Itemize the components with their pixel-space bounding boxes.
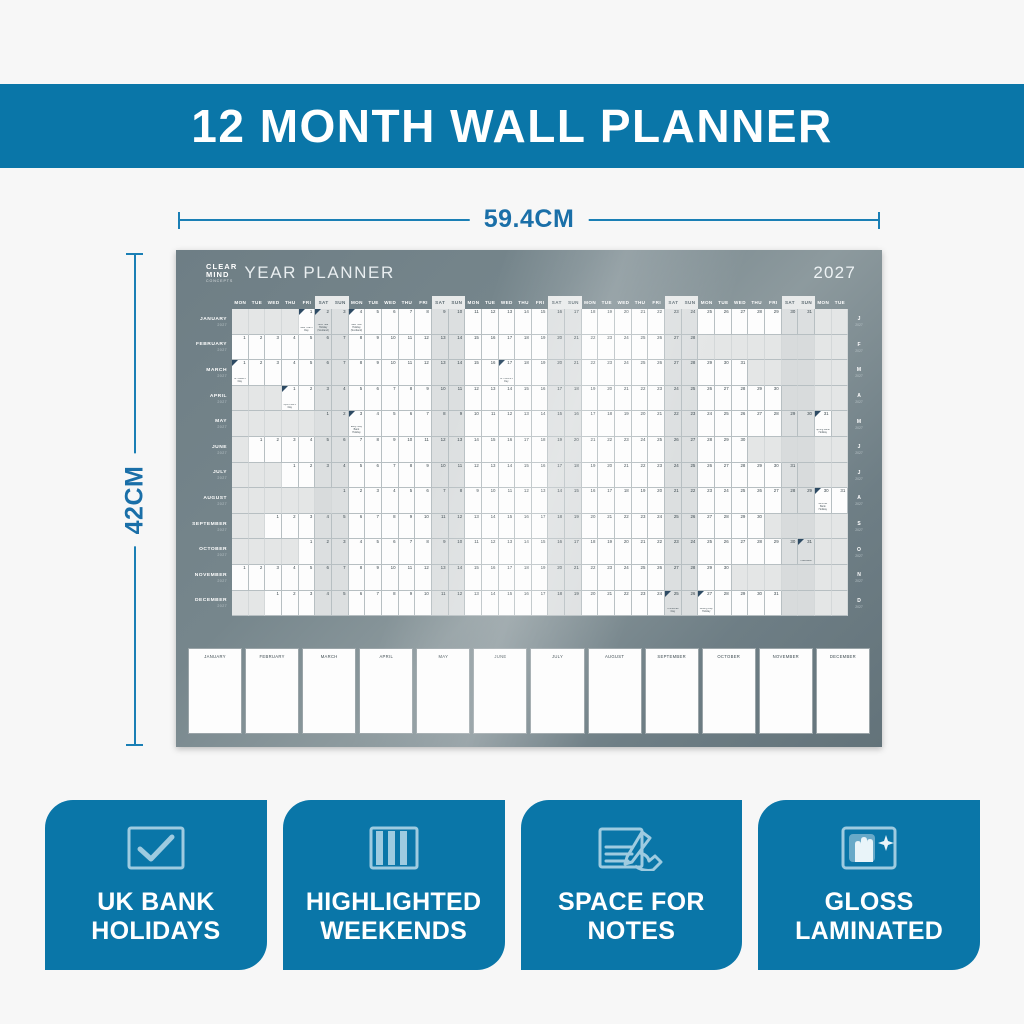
day-cell[interactable]: 20 xyxy=(582,514,599,540)
day-cell[interactable]: 20 xyxy=(565,437,582,463)
day-cell[interactable]: 12 xyxy=(415,360,432,386)
day-cell[interactable]: 7 xyxy=(415,411,432,437)
day-cell[interactable]: 30 xyxy=(732,437,749,463)
day-cell[interactable]: 11 xyxy=(399,360,416,386)
day-cell[interactable]: 23 xyxy=(632,591,649,617)
day-cell[interactable]: 4 xyxy=(315,591,332,617)
day-cell[interactable]: 12 xyxy=(415,565,432,591)
day-cell[interactable]: 23 xyxy=(615,437,632,463)
feature-badge-uk-bank-holidays[interactable]: UK BANKHOLIDAYS xyxy=(45,800,267,970)
day-cell[interactable]: 31 xyxy=(798,309,815,335)
day-cell[interactable]: 21 xyxy=(598,514,615,540)
day-cell[interactable]: 8 xyxy=(349,565,366,591)
day-cell[interactable]: 31Halloween xyxy=(798,539,815,565)
day-cell[interactable]: 29 xyxy=(732,591,749,617)
feature-badge-gloss-laminated[interactable]: GLOSSLAMINATED xyxy=(758,800,980,970)
day-cell[interactable]: 24 xyxy=(615,360,632,386)
day-cell[interactable]: 15 xyxy=(532,539,549,565)
day-cell[interactable]: 31 xyxy=(732,360,749,386)
day-cell[interactable]: 15 xyxy=(465,360,482,386)
day-cell[interactable]: 23 xyxy=(682,411,699,437)
day-cell[interactable]: 3 xyxy=(365,488,382,514)
day-cell[interactable]: 28 xyxy=(748,309,765,335)
note-box-june[interactable]: JUNE xyxy=(473,648,527,734)
day-cell[interactable]: 1April Fool's Day xyxy=(282,386,299,412)
day-cell[interactable]: 27 xyxy=(665,335,682,361)
day-cell[interactable]: 19 xyxy=(632,488,649,514)
day-cell[interactable]: 28 xyxy=(748,539,765,565)
day-cell[interactable]: 7 xyxy=(365,514,382,540)
day-cell[interactable]: 13 xyxy=(432,360,449,386)
day-cell[interactable]: 14 xyxy=(449,360,466,386)
day-cell[interactable]: 2 xyxy=(282,514,299,540)
day-cell[interactable]: 31 xyxy=(782,463,799,489)
day-cell[interactable]: 9 xyxy=(365,335,382,361)
day-cell[interactable]: 30 xyxy=(798,411,815,437)
day-cell[interactable]: 16 xyxy=(499,437,516,463)
day-cell[interactable]: 2 xyxy=(349,488,366,514)
day-cell[interactable]: 7 xyxy=(382,386,399,412)
day-cell[interactable]: 14 xyxy=(499,463,516,489)
day-cell[interactable]: 3 xyxy=(265,335,282,361)
day-cell[interactable]: 21 xyxy=(565,565,582,591)
day-cell[interactable]: 23 xyxy=(698,488,715,514)
day-cell[interactable]: 16 xyxy=(515,591,532,617)
day-cell[interactable]: 18 xyxy=(582,309,599,335)
day-cell[interactable]: 6 xyxy=(399,411,416,437)
day-cell[interactable]: 8 xyxy=(399,463,416,489)
day-cell[interactable]: 22 xyxy=(615,514,632,540)
day-cell[interactable]: 29 xyxy=(698,360,715,386)
day-cell[interactable]: 23 xyxy=(648,463,665,489)
day-cell[interactable]: 9 xyxy=(365,565,382,591)
day-cell[interactable]: 6 xyxy=(349,591,366,617)
day-cell[interactable]: 17 xyxy=(548,386,565,412)
day-cell[interactable]: 13 xyxy=(465,591,482,617)
day-cell[interactable]: 29 xyxy=(782,411,799,437)
day-cell[interactable]: 12 xyxy=(449,591,466,617)
day-cell[interactable]: 12 xyxy=(499,411,516,437)
note-box-october[interactable]: OCTOBER xyxy=(702,648,756,734)
day-cell[interactable]: 7 xyxy=(332,565,349,591)
day-cell[interactable]: 13 xyxy=(465,514,482,540)
day-cell[interactable]: 15 xyxy=(548,411,565,437)
day-cell[interactable]: 9 xyxy=(399,591,416,617)
feature-badge-space-for-notes[interactable]: SPACE FORNOTES xyxy=(521,800,743,970)
note-box-april[interactable]: APRIL xyxy=(359,648,413,734)
day-cell[interactable]: 22 xyxy=(582,360,599,386)
day-cell[interactable]: 18 xyxy=(582,539,599,565)
day-cell[interactable]: 30 xyxy=(748,514,765,540)
day-cell[interactable]: 23 xyxy=(665,309,682,335)
day-cell[interactable]: 18 xyxy=(615,488,632,514)
day-cell[interactable]: 8 xyxy=(382,591,399,617)
day-cell[interactable]: 16 xyxy=(482,360,499,386)
day-cell[interactable]: 14 xyxy=(499,386,516,412)
day-cell[interactable]: 8 xyxy=(382,514,399,540)
day-cell[interactable]: 25 xyxy=(732,488,749,514)
day-cell[interactable]: 23 xyxy=(648,386,665,412)
day-cell[interactable]: 1 xyxy=(282,463,299,489)
day-cell[interactable]: 27 xyxy=(765,488,782,514)
day-cell[interactable]: 11 xyxy=(432,514,449,540)
day-cell[interactable]: 3 xyxy=(332,309,349,335)
day-cell[interactable]: 2 xyxy=(332,411,349,437)
day-cell[interactable]: 25 xyxy=(682,463,699,489)
day-cell[interactable]: 18 xyxy=(565,386,582,412)
day-cell[interactable]: 7 xyxy=(332,335,349,361)
note-box-january[interactable]: JANUARY xyxy=(188,648,242,734)
day-cell[interactable]: 2 xyxy=(299,463,316,489)
day-cell[interactable]: 12 xyxy=(482,539,499,565)
day-cell[interactable]: 15 xyxy=(465,565,482,591)
day-cell[interactable]: 12 xyxy=(415,335,432,361)
day-cell[interactable]: 15 xyxy=(532,309,549,335)
day-cell[interactable]: 6 xyxy=(315,335,332,361)
day-cell[interactable]: 17 xyxy=(548,463,565,489)
day-cell[interactable]: 25Christmas Day xyxy=(665,591,682,617)
day-cell[interactable]: 20 xyxy=(582,591,599,617)
note-box-august[interactable]: AUGUST xyxy=(588,648,642,734)
day-cell[interactable]: 23 xyxy=(632,514,649,540)
day-cell[interactable]: 9 xyxy=(382,437,399,463)
note-box-september[interactable]: SEPTEMBER xyxy=(645,648,699,734)
day-cell[interactable]: 20 xyxy=(615,539,632,565)
day-cell[interactable]: 6 xyxy=(382,539,399,565)
day-cell[interactable]: 27 xyxy=(732,539,749,565)
day-cell[interactable]: 10 xyxy=(399,437,416,463)
day-cell[interactable]: 18 xyxy=(565,463,582,489)
day-cell[interactable]: 23 xyxy=(665,539,682,565)
day-cell[interactable]: 4 xyxy=(315,514,332,540)
day-cell[interactable]: 1St. David's Day xyxy=(232,360,249,386)
day-cell[interactable]: 6 xyxy=(365,386,382,412)
day-cell[interactable]: 11 xyxy=(449,463,466,489)
day-cell[interactable]: 1 xyxy=(232,565,249,591)
day-cell[interactable]: 9 xyxy=(399,514,416,540)
day-cell[interactable]: 21 xyxy=(582,437,599,463)
day-cell[interactable]: 17 xyxy=(582,411,599,437)
day-cell[interactable]: 19 xyxy=(532,565,549,591)
day-cell[interactable]: 27Boxing Day Holiday xyxy=(698,591,715,617)
day-cell[interactable]: 17 xyxy=(499,565,516,591)
day-cell[interactable]: 10 xyxy=(449,539,466,565)
day-cell[interactable]: 9 xyxy=(415,463,432,489)
day-cell[interactable]: 27 xyxy=(715,463,732,489)
day-cell[interactable]: 24 xyxy=(665,386,682,412)
day-cell[interactable]: 18 xyxy=(515,565,532,591)
day-cell[interactable]: 10 xyxy=(382,360,399,386)
day-cell[interactable]: 28 xyxy=(782,488,799,514)
day-cell[interactable]: 20 xyxy=(548,565,565,591)
day-cell[interactable]: 18 xyxy=(548,591,565,617)
day-cell[interactable]: 16 xyxy=(582,488,599,514)
day-cell[interactable]: 4 xyxy=(349,539,366,565)
day-cell[interactable]: 6 xyxy=(315,360,332,386)
day-cell[interactable]: 4 xyxy=(332,463,349,489)
note-box-march[interactable]: MARCH xyxy=(302,648,356,734)
day-cell[interactable]: 5 xyxy=(299,335,316,361)
day-cell[interactable]: 2New Year Holiday (Scotland) xyxy=(315,309,332,335)
day-cell[interactable]: 26 xyxy=(648,335,665,361)
day-cell[interactable]: 17 xyxy=(532,591,549,617)
day-cell[interactable]: 14 xyxy=(482,514,499,540)
day-cell[interactable]: 4 xyxy=(282,360,299,386)
day-cell[interactable]: 19 xyxy=(565,514,582,540)
day-cell[interactable]: 26 xyxy=(715,539,732,565)
day-cell[interactable]: 10 xyxy=(432,463,449,489)
day-cell[interactable]: 1 xyxy=(332,488,349,514)
day-cell[interactable]: 25 xyxy=(715,411,732,437)
day-cell[interactable]: 19 xyxy=(532,360,549,386)
day-cell[interactable]: 11 xyxy=(499,488,516,514)
day-cell[interactable]: 29 xyxy=(748,386,765,412)
day-cell[interactable]: 15 xyxy=(515,463,532,489)
day-cell[interactable]: 26 xyxy=(682,591,699,617)
day-cell[interactable]: 19 xyxy=(598,539,615,565)
day-cell[interactable]: 4New Year Holiday (Scotland) xyxy=(349,309,366,335)
day-cell[interactable]: 11 xyxy=(415,437,432,463)
day-cell[interactable]: 29 xyxy=(798,488,815,514)
day-cell[interactable]: 12 xyxy=(482,309,499,335)
day-cell[interactable]: 30 xyxy=(715,565,732,591)
day-cell[interactable]: 22 xyxy=(648,309,665,335)
day-cell[interactable]: 12 xyxy=(465,386,482,412)
day-cell[interactable]: 23 xyxy=(598,360,615,386)
day-cell[interactable]: 2 xyxy=(249,360,266,386)
day-cell[interactable]: 6 xyxy=(315,565,332,591)
day-cell[interactable]: 19 xyxy=(615,411,632,437)
day-cell[interactable]: 8 xyxy=(399,386,416,412)
day-cell[interactable]: 21 xyxy=(665,488,682,514)
day-cell[interactable]: 6 xyxy=(415,488,432,514)
day-cell[interactable]: 25 xyxy=(632,335,649,361)
day-cell[interactable]: 5 xyxy=(399,488,416,514)
note-box-december[interactable]: DECEMBER xyxy=(816,648,870,734)
day-cell[interactable]: 9 xyxy=(365,360,382,386)
day-cell[interactable]: 17 xyxy=(565,309,582,335)
day-cell[interactable]: 13 xyxy=(432,565,449,591)
day-cell[interactable]: 16 xyxy=(532,463,549,489)
day-cell[interactable]: 5 xyxy=(382,411,399,437)
day-cell[interactable]: 14 xyxy=(449,335,466,361)
day-cell[interactable]: 29 xyxy=(765,539,782,565)
day-cell[interactable]: 20 xyxy=(648,488,665,514)
day-cell[interactable]: 17 xyxy=(515,437,532,463)
day-cell[interactable]: 20 xyxy=(598,463,615,489)
day-cell[interactable]: 15 xyxy=(565,488,582,514)
day-cell[interactable]: 17 xyxy=(598,488,615,514)
day-cell[interactable]: 12 xyxy=(465,463,482,489)
day-cell[interactable]: 23 xyxy=(598,335,615,361)
day-cell[interactable]: 24 xyxy=(682,309,699,335)
day-cell[interactable]: 28 xyxy=(732,463,749,489)
day-cell[interactable]: 24 xyxy=(632,437,649,463)
day-cell[interactable]: 28 xyxy=(682,335,699,361)
day-cell[interactable]: 7 xyxy=(399,309,416,335)
day-cell[interactable]: 20 xyxy=(598,386,615,412)
day-cell[interactable]: 11 xyxy=(449,386,466,412)
day-cell[interactable]: 16 xyxy=(548,539,565,565)
day-cell[interactable]: 22 xyxy=(648,539,665,565)
day-cell[interactable]: 7 xyxy=(399,539,416,565)
day-cell[interactable]: 26 xyxy=(748,488,765,514)
day-cell[interactable]: 9 xyxy=(432,539,449,565)
day-cell[interactable]: 27 xyxy=(732,309,749,335)
day-cell[interactable]: 8 xyxy=(432,411,449,437)
day-cell[interactable]: 13 xyxy=(482,463,499,489)
day-cell[interactable]: 13 xyxy=(482,386,499,412)
day-cell[interactable]: 1 xyxy=(249,437,266,463)
day-cell[interactable]: 5 xyxy=(315,437,332,463)
day-cell[interactable]: 4 xyxy=(299,437,316,463)
day-cell[interactable]: 14 xyxy=(482,591,499,617)
day-cell[interactable]: 22 xyxy=(582,335,599,361)
day-cell[interactable]: 10 xyxy=(432,386,449,412)
day-cell[interactable]: 7 xyxy=(332,360,349,386)
day-cell[interactable]: 24 xyxy=(698,411,715,437)
day-cell[interactable]: 11 xyxy=(399,565,416,591)
day-cell[interactable]: 19 xyxy=(565,591,582,617)
day-cell[interactable]: 7 xyxy=(432,488,449,514)
day-cell[interactable]: 22 xyxy=(632,463,649,489)
day-cell[interactable]: 31 xyxy=(832,488,849,514)
day-cell[interactable]: 24 xyxy=(615,335,632,361)
note-box-may[interactable]: MAY xyxy=(416,648,470,734)
day-cell[interactable]: 5 xyxy=(332,514,349,540)
day-cell[interactable]: 22 xyxy=(582,565,599,591)
day-cell[interactable]: 2 xyxy=(315,539,332,565)
day-cell[interactable]: 29 xyxy=(765,309,782,335)
day-cell[interactable]: 1 xyxy=(265,514,282,540)
day-cell[interactable]: 30Summer Bank Holiday xyxy=(815,488,832,514)
day-cell[interactable]: 5 xyxy=(332,591,349,617)
day-cell[interactable]: 16 xyxy=(482,565,499,591)
day-cell[interactable]: 22 xyxy=(682,488,699,514)
day-cell[interactable]: 9 xyxy=(449,411,466,437)
day-cell[interactable]: 11 xyxy=(482,411,499,437)
day-cell[interactable]: 1 xyxy=(232,335,249,361)
day-cell[interactable]: 8 xyxy=(349,360,366,386)
day-cell[interactable]: 2 xyxy=(282,591,299,617)
day-cell[interactable]: 27 xyxy=(682,437,699,463)
day-cell[interactable]: 3 xyxy=(282,437,299,463)
day-cell[interactable]: 10 xyxy=(382,335,399,361)
day-cell[interactable]: 2 xyxy=(249,565,266,591)
day-cell[interactable]: 17 xyxy=(532,514,549,540)
day-cell[interactable]: 27 xyxy=(665,360,682,386)
note-box-february[interactable]: FEBRUARY xyxy=(245,648,299,734)
day-cell[interactable]: 13 xyxy=(499,539,516,565)
day-cell[interactable]: 26 xyxy=(648,360,665,386)
day-cell[interactable]: 26 xyxy=(715,309,732,335)
feature-badge-highlighted-weekends[interactable]: HIGHLIGHTEDWEEKENDS xyxy=(283,800,505,970)
day-cell[interactable]: 11 xyxy=(432,591,449,617)
day-cell[interactable]: 11 xyxy=(399,335,416,361)
day-cell[interactable]: 8 xyxy=(449,488,466,514)
day-cell[interactable]: 8 xyxy=(415,309,432,335)
day-cell[interactable]: 16 xyxy=(532,386,549,412)
day-cell[interactable]: 21 xyxy=(565,335,582,361)
day-cell[interactable]: 25 xyxy=(698,309,715,335)
day-cell[interactable]: 25 xyxy=(648,437,665,463)
day-cell[interactable]: 19 xyxy=(548,437,565,463)
day-cell[interactable]: 28 xyxy=(698,437,715,463)
day-cell[interactable]: 14 xyxy=(548,488,565,514)
day-cell[interactable]: 21 xyxy=(615,386,632,412)
day-cell[interactable]: 24 xyxy=(665,463,682,489)
day-cell[interactable]: 28 xyxy=(715,514,732,540)
day-cell[interactable]: 26 xyxy=(665,437,682,463)
day-cell[interactable]: 2 xyxy=(299,386,316,412)
day-cell[interactable]: 15 xyxy=(482,437,499,463)
day-cell[interactable]: 9 xyxy=(415,386,432,412)
day-cell[interactable]: 31 xyxy=(765,591,782,617)
day-cell[interactable]: 21 xyxy=(632,309,649,335)
day-cell[interactable]: 30 xyxy=(782,309,799,335)
day-cell[interactable]: 19 xyxy=(532,335,549,361)
day-cell[interactable]: 15 xyxy=(515,386,532,412)
day-cell[interactable]: 4 xyxy=(382,488,399,514)
day-cell[interactable]: 24 xyxy=(648,591,665,617)
day-cell[interactable]: 18 xyxy=(548,514,565,540)
day-cell[interactable]: 21 xyxy=(615,463,632,489)
day-cell[interactable]: 24 xyxy=(682,539,699,565)
day-cell[interactable]: 26 xyxy=(698,386,715,412)
day-cell[interactable]: 27 xyxy=(715,386,732,412)
day-cell[interactable]: 14 xyxy=(449,565,466,591)
day-cell[interactable]: 20 xyxy=(615,309,632,335)
day-cell[interactable]: 30 xyxy=(765,463,782,489)
day-cell[interactable]: 4 xyxy=(282,335,299,361)
day-cell[interactable]: 25 xyxy=(632,360,649,386)
day-cell[interactable]: 12 xyxy=(515,488,532,514)
day-cell[interactable]: 5 xyxy=(365,309,382,335)
day-cell[interactable]: 30 xyxy=(782,539,799,565)
day-cell[interactable]: 22 xyxy=(615,591,632,617)
day-cell[interactable]: 28 xyxy=(765,411,782,437)
day-cell[interactable]: 15 xyxy=(499,591,516,617)
day-cell[interactable]: 11 xyxy=(465,309,482,335)
day-cell[interactable]: 17 xyxy=(499,335,516,361)
day-cell[interactable]: 24 xyxy=(648,514,665,540)
day-cell[interactable]: 30 xyxy=(765,386,782,412)
day-cell[interactable]: 3 xyxy=(332,539,349,565)
day-cell[interactable]: 18 xyxy=(532,437,549,463)
day-cell[interactable]: 13 xyxy=(499,309,516,335)
day-cell[interactable]: 21 xyxy=(598,591,615,617)
day-cell[interactable]: 5 xyxy=(349,386,366,412)
day-cell[interactable]: 1 xyxy=(299,539,316,565)
day-cell[interactable]: 19 xyxy=(582,463,599,489)
day-cell[interactable]: 26 xyxy=(698,463,715,489)
day-cell[interactable]: 29 xyxy=(698,565,715,591)
day-cell[interactable]: 29 xyxy=(732,514,749,540)
day-cell[interactable]: 10 xyxy=(449,309,466,335)
day-cell[interactable]: 14 xyxy=(532,411,549,437)
day-cell[interactable]: 22 xyxy=(598,437,615,463)
day-cell[interactable]: 4 xyxy=(332,386,349,412)
day-cell[interactable]: 10 xyxy=(415,591,432,617)
day-cell[interactable]: 5 xyxy=(299,565,316,591)
day-cell[interactable]: 29 xyxy=(748,463,765,489)
note-box-july[interactable]: JULY xyxy=(530,648,584,734)
day-cell[interactable]: 14 xyxy=(465,437,482,463)
day-cell[interactable]: 28 xyxy=(682,565,699,591)
day-cell[interactable]: 23 xyxy=(598,565,615,591)
day-cell[interactable]: 8 xyxy=(415,539,432,565)
day-cell[interactable]: 3 xyxy=(265,565,282,591)
